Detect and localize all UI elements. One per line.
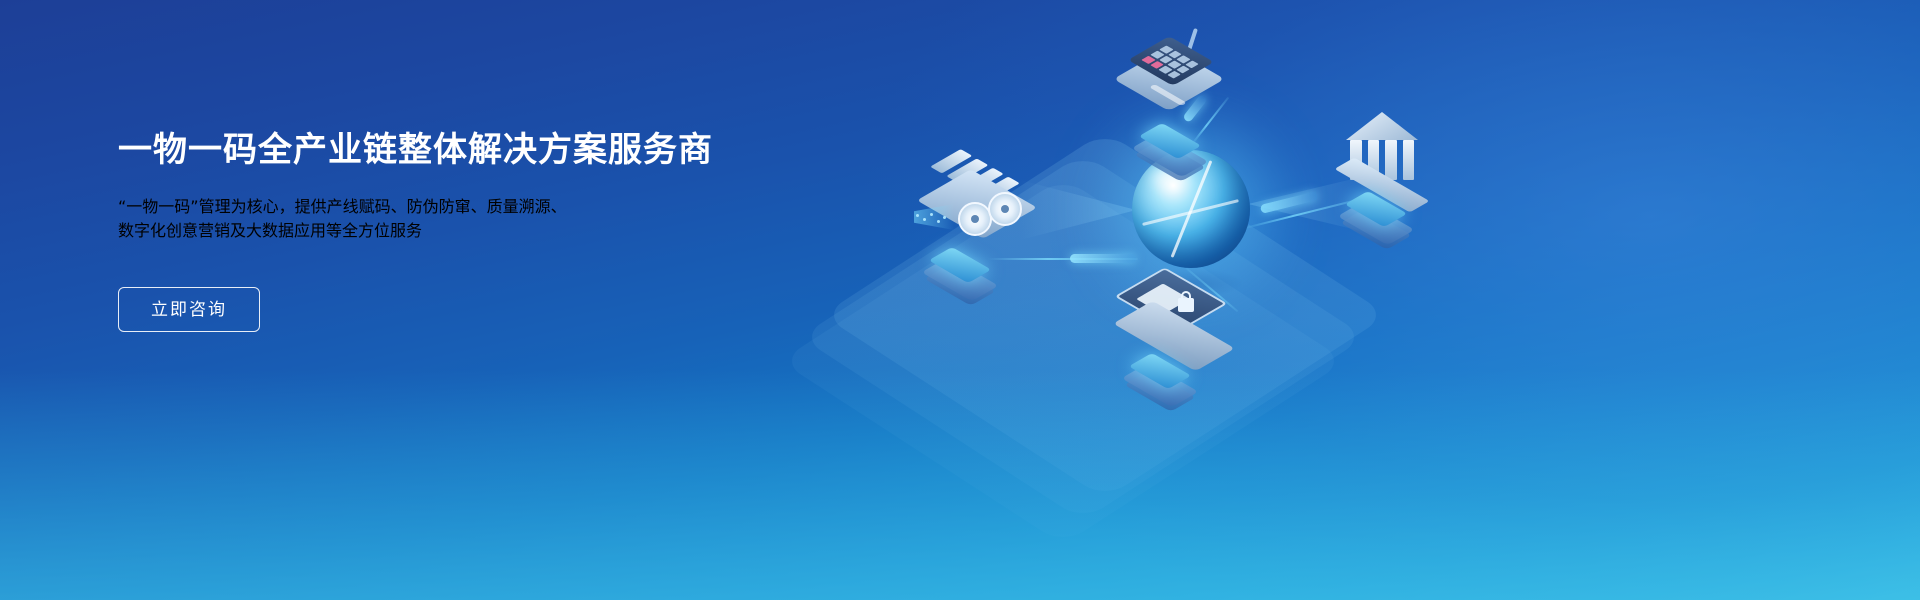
hero-subtitle-line-1: “一物一码”管理为核心，提供产线赋码、防伪防窜、质量溯源、 (118, 193, 758, 217)
bank-column (1403, 140, 1415, 180)
rack-fan (958, 202, 992, 236)
pedestal-pos (1142, 128, 1198, 162)
page-title: 一物一码全产业链整体解决方案服务商 (118, 130, 758, 171)
hero-illustration (880, 0, 1500, 600)
pedestal-laptop (1132, 358, 1188, 392)
particle (943, 216, 946, 219)
server-fan-rack-icon (914, 152, 1054, 262)
particle (937, 220, 940, 223)
pedestal-rack (932, 252, 988, 286)
hero-copy-block: 一物一码全产业链整体解决方案服务商 “一物一码”管理为核心，提供产线赋码、防伪防… (118, 130, 758, 332)
pos-terminal-icon (1128, 28, 1224, 136)
bank-roof (1346, 112, 1418, 140)
particle (916, 214, 919, 217)
rack-fan (988, 192, 1022, 226)
data-packet-left (1070, 254, 1136, 263)
particle (930, 213, 933, 216)
rack-particles (916, 212, 946, 226)
hero-subtitle-line-2: 数字化创意营销及大数据应用等全方位服务 (118, 217, 758, 241)
hero-banner: 一物一码全产业链整体解决方案服务商 “一物一码”管理为核心，提供产线赋码、防伪防… (0, 0, 1920, 600)
particle (923, 218, 926, 221)
bank-column (1385, 140, 1397, 180)
pedestal-bank (1348, 196, 1404, 230)
lock-icon (1178, 298, 1194, 312)
consult-now-button[interactable]: 立即咨询 (118, 287, 260, 332)
